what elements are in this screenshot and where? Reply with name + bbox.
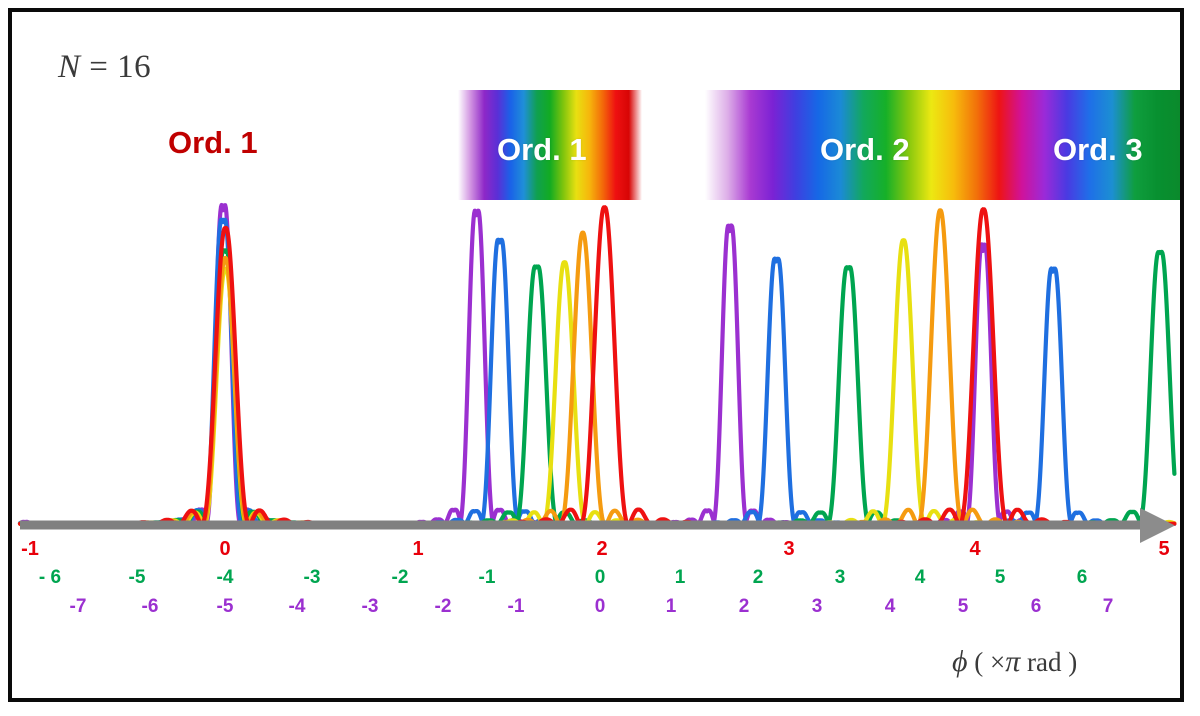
tick-label: 3 bbox=[812, 596, 823, 618]
pi-symbol: π bbox=[1005, 645, 1020, 678]
tick-label: -1 bbox=[508, 596, 525, 618]
tick-label: -3 bbox=[304, 567, 321, 589]
x-axis-caption: ϕ ( ×π rad ) bbox=[952, 645, 1077, 679]
spectrum-bar-label-order-1: Ord. 1 bbox=[497, 132, 587, 168]
tick-label: -1 bbox=[479, 567, 496, 589]
tick-label: 1 bbox=[666, 596, 677, 618]
tick-label: 5 bbox=[995, 567, 1006, 589]
n-symbol: N bbox=[58, 49, 81, 85]
tick-label: -2 bbox=[392, 567, 409, 589]
tick-label: 4 bbox=[915, 567, 926, 589]
tick-label: 2 bbox=[753, 567, 764, 589]
tick-label: -4 bbox=[217, 567, 234, 589]
tick-label: 7 bbox=[1103, 596, 1114, 618]
tick-label: -5 bbox=[129, 567, 146, 589]
tick-label: -5 bbox=[217, 596, 234, 618]
figure-root: N = 16 Ord. 1 Ord. 1 Ord. 2 Ord. 3 -1012… bbox=[0, 0, 1200, 716]
x-caption-open: ( bbox=[968, 647, 991, 677]
tick-label: 1 bbox=[675, 567, 686, 589]
rad-unit: rad bbox=[1020, 647, 1061, 677]
x-caption-close: ) bbox=[1062, 647, 1078, 677]
tick-label: 6 bbox=[1077, 567, 1088, 589]
tick-label: 1 bbox=[412, 538, 423, 560]
tick-label: 6 bbox=[1031, 596, 1042, 618]
spectrum-bar-label-order-3: Ord. 3 bbox=[1053, 132, 1143, 168]
tick-label: -6 bbox=[142, 596, 159, 618]
n-value: 16 bbox=[117, 49, 151, 85]
tick-label: 0 bbox=[595, 596, 606, 618]
tick-label: - 6 bbox=[39, 567, 61, 589]
tick-label: 4 bbox=[885, 596, 896, 618]
spectrum-bar-label-order-2: Ord. 2 bbox=[820, 132, 910, 168]
tick-label: 4 bbox=[969, 538, 980, 560]
tick-label: -3 bbox=[362, 596, 379, 618]
tick-label: 0 bbox=[219, 538, 230, 560]
n-equals: = bbox=[81, 49, 118, 85]
tick-row-order-1: -1012345 bbox=[0, 538, 1200, 564]
tick-label: 3 bbox=[835, 567, 846, 589]
tick-row-order-2: - 6-5-4-3-2-10123456 bbox=[0, 567, 1200, 593]
tick-label: -7 bbox=[70, 596, 87, 618]
tick-label: -2 bbox=[435, 596, 452, 618]
tick-row-order-3: -7-6-5-4-3-2-101234567 bbox=[0, 596, 1200, 622]
tick-label: 5 bbox=[1158, 538, 1169, 560]
tick-label: -4 bbox=[289, 596, 306, 618]
tick-label: 5 bbox=[958, 596, 969, 618]
tick-label: 0 bbox=[595, 567, 606, 589]
tick-label: -1 bbox=[21, 538, 39, 560]
n-slits-annotation: N = 16 bbox=[58, 49, 151, 86]
phi-symbol: ϕ bbox=[952, 645, 968, 678]
tick-label: 2 bbox=[596, 538, 607, 560]
times-symbol: × bbox=[990, 647, 1005, 677]
tick-label: 3 bbox=[783, 538, 794, 560]
tick-label: 2 bbox=[739, 596, 750, 618]
zero-order-label: Ord. 1 bbox=[168, 125, 258, 161]
